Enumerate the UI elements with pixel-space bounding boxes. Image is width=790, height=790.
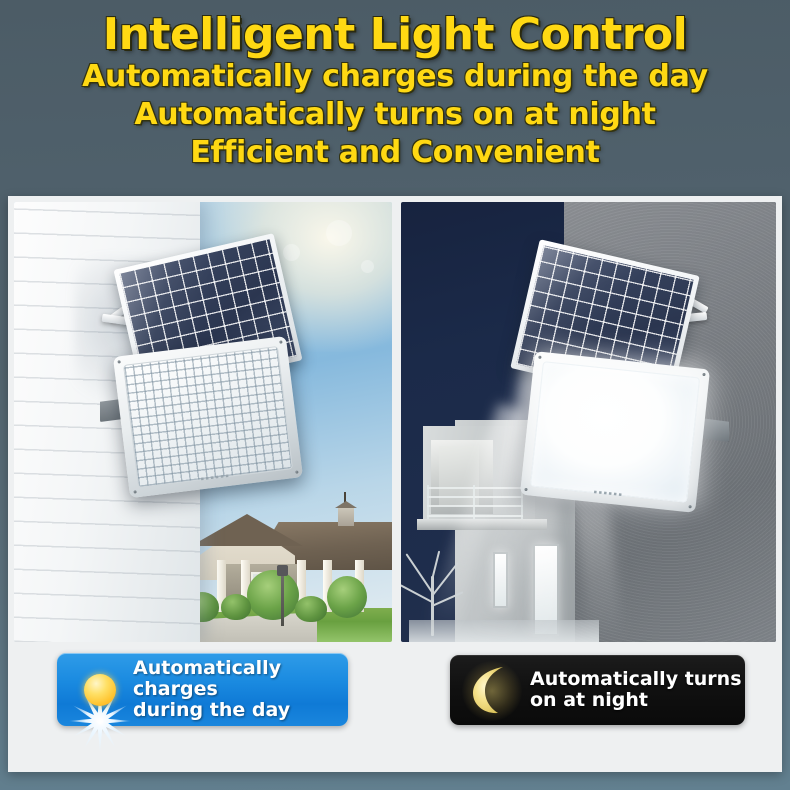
badge-day-line-2: during the day <box>133 700 348 721</box>
page-title: Intelligent Light Control <box>0 13 790 58</box>
shrub <box>221 594 251 620</box>
tree-branch <box>405 553 432 592</box>
badge-day-line-1: Automatically charges <box>133 658 348 701</box>
railing-post <box>427 485 429 519</box>
housing-screw <box>133 490 136 493</box>
led-floodlight: ▪▪▪▪▪▪ <box>520 351 710 513</box>
badge-auto-charge-day[interactable]: Automatically charges during the day <box>57 653 348 726</box>
led-lens-array <box>530 361 700 503</box>
crescent-moon-glyph <box>470 665 514 715</box>
promo-header: Intelligent Light Control Automatically … <box>0 0 790 171</box>
led-lens-array <box>123 346 293 488</box>
subtitle-line-1: Automatically charges during the day <box>0 58 790 95</box>
housing-screw <box>702 373 705 376</box>
tree <box>247 570 299 620</box>
badge-night-line-1: Automatically turns <box>530 669 742 690</box>
night-photo-panel: ▪▪▪▪▪▪ <box>401 202 776 642</box>
tree-branch <box>432 591 464 607</box>
badge-night-text: Automatically turns on at night <box>530 669 742 712</box>
subtitle-line-3: Efficient and Convenient <box>0 134 790 171</box>
solar-light-fixture-night: ▪▪▪▪▪▪ <box>509 236 769 536</box>
card-footer-space <box>8 738 782 772</box>
garden-lamp-post <box>281 574 284 626</box>
feature-badges: Automatically charges during the day <box>8 648 782 738</box>
ground <box>409 620 599 642</box>
tree-branch <box>431 551 440 581</box>
bare-tree <box>401 516 475 636</box>
housing-screw <box>524 488 527 491</box>
badge-auto-on-night[interactable]: Automatically turns on at night <box>450 655 745 725</box>
housing-screw <box>279 340 282 343</box>
lens-bokeh <box>361 260 374 273</box>
moon-icon <box>456 657 530 723</box>
housing-screw <box>117 360 120 363</box>
shrub <box>295 596 327 622</box>
tree <box>327 576 367 618</box>
photo-panels: ▪▪▪▪▪▪ <box>14 202 776 642</box>
subtitle-line-2: Automatically turns on at night <box>0 96 790 133</box>
led-floodlight: ▪▪▪▪▪▪ <box>113 336 303 498</box>
content-card: ▪▪▪▪▪▪ <box>8 196 782 772</box>
sun-icon <box>67 657 133 723</box>
housing-screw <box>538 356 541 359</box>
solar-light-fixture-day: ▪▪▪▪▪▪ <box>100 220 350 510</box>
housing-screw <box>688 505 691 508</box>
housing-screw <box>295 470 298 473</box>
badge-night-line-2: on at night <box>530 690 742 711</box>
badge-day-text: Automatically charges during the day <box>133 658 348 722</box>
railing-post <box>473 485 475 519</box>
day-photo-panel: ▪▪▪▪▪▪ <box>14 202 392 642</box>
tall-window <box>493 552 508 608</box>
